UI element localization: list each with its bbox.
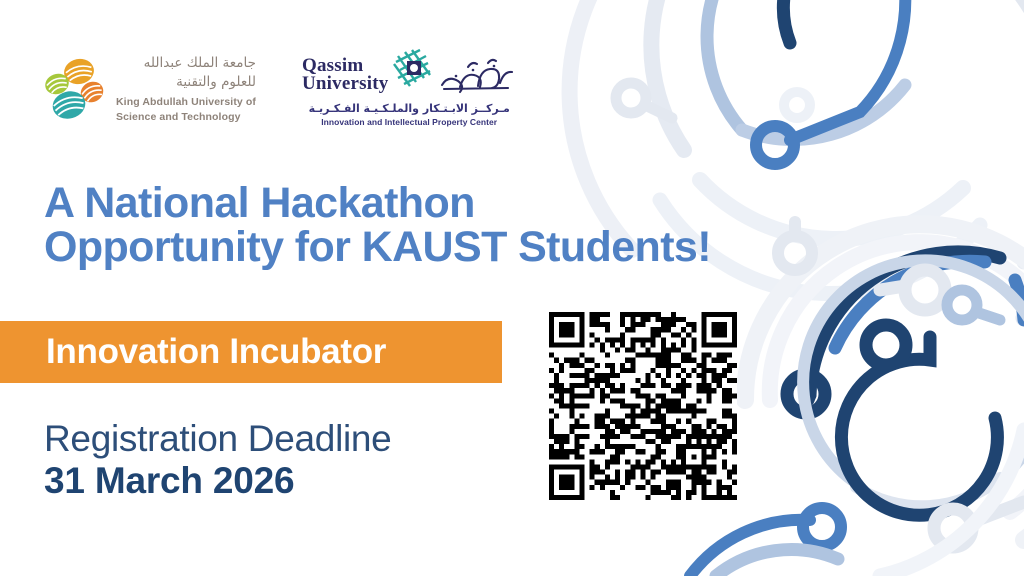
page-title: A National Hackathon Opportunity for KAU… bbox=[44, 181, 711, 270]
registration-deadline-block: Registration Deadline 31 March 2026 bbox=[44, 418, 391, 502]
kaust-english-line-2: Science and Technology bbox=[116, 111, 256, 125]
kaust-arabic-line-1: جامعة الملك عبدالله bbox=[116, 55, 256, 72]
registration-qr-code[interactable] bbox=[549, 312, 737, 500]
qr-code-image[interactable] bbox=[549, 312, 737, 500]
qassim-wordmark: Qassim University bbox=[302, 57, 388, 94]
qassim-logo-main: Qassim University bbox=[302, 55, 516, 95]
logo-row: جامعة الملك عبدالله للعلوم والتقنية King… bbox=[42, 55, 516, 127]
qassim-university-logo: Qassim University bbox=[302, 55, 516, 127]
program-banner: Innovation Incubator bbox=[0, 321, 502, 383]
qassim-lattice-emblem-icon bbox=[390, 48, 434, 90]
deadline-label: Registration Deadline bbox=[44, 418, 391, 459]
kaust-logo-text: جامعة الملك عبدالله للعلوم والتقنية King… bbox=[116, 55, 256, 125]
kaust-logo: جامعة الملك عبدالله للعلوم والتقنية King… bbox=[42, 55, 256, 125]
kaust-mark-icon bbox=[42, 57, 106, 123]
qassim-word-line-2: University bbox=[302, 75, 388, 93]
promotional-poster: جامعة الملك عبدالله للعلوم والتقنية King… bbox=[0, 0, 1024, 576]
qassim-arabic-wordmark bbox=[438, 55, 516, 95]
qassim-center-arabic: مـركــز الابـتـكار والملـكـيـة الفـكـريـ… bbox=[309, 102, 510, 115]
kaust-arabic-line-2: للعلوم والتقنية bbox=[116, 74, 256, 91]
qassim-center-english: Innovation and Intellectual Property Cen… bbox=[309, 117, 510, 127]
program-banner-label: Innovation Incubator bbox=[46, 332, 386, 372]
deadline-date: 31 March 2026 bbox=[44, 460, 391, 501]
kaust-english-line-1: King Abdullah University of bbox=[116, 96, 256, 110]
qassim-center-name: مـركــز الابـتـكار والملـكـيـة الفـكـريـ… bbox=[309, 102, 510, 127]
